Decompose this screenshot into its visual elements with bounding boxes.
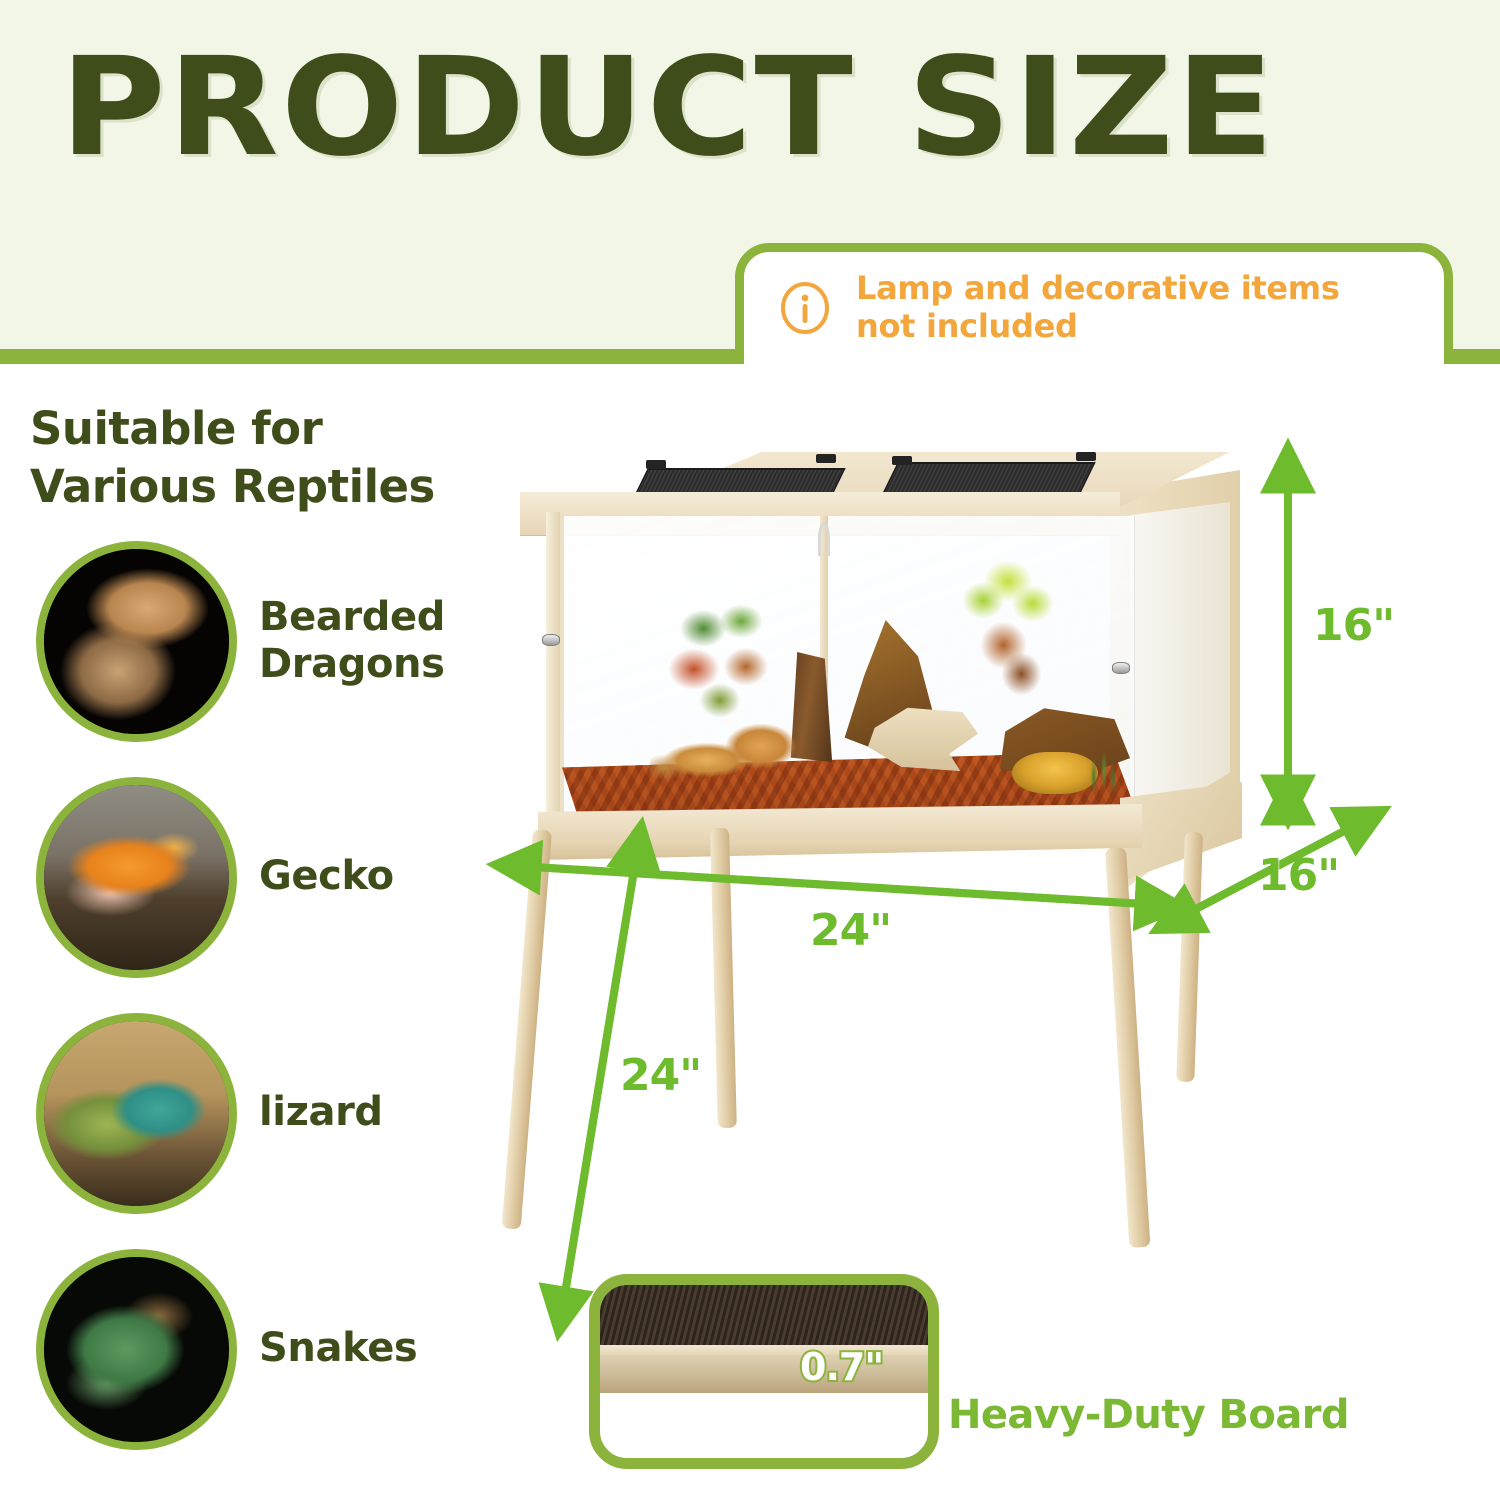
infographic-canvas: PRODUCT SIZE Lamp and decorative items n… [0,0,1500,1489]
stand-leg-back-left [1105,847,1150,1248]
product-image [495,430,1305,1310]
list-item-label: Bearded Dragons [259,594,445,688]
base-front-rail [538,804,1142,860]
lizard-photo [36,1013,237,1214]
board-mesh-surface [600,1285,928,1349]
stand-leg-front-left [502,829,552,1229]
stand-leg-front-right [710,828,737,1128]
door-latch-icon [818,522,830,556]
board-thickness-label: 0.7" [800,1345,883,1389]
list-item-label: Gecko [259,853,394,900]
hinge-icon [816,454,836,463]
stand-leg-back-right [1176,832,1203,1082]
label-line-1: Bearded [259,594,445,641]
grass-decor [1080,742,1126,800]
list-item-label: lizard [259,1089,383,1136]
notice-text: Lamp and decorative items not included [856,270,1340,346]
hinge-icon [1076,452,1096,461]
door-knob-right[interactable] [1112,662,1130,674]
plant-decor-right [952,562,1064,722]
notice-line-2: not included [856,308,1340,346]
not-included-notice: Lamp and decorative items not included [735,243,1453,364]
door-knob-left[interactable] [542,634,560,646]
list-item: lizard [0,995,470,1231]
list-item: Bearded Dragons [0,523,470,759]
notice-line-1: Lamp and decorative items [856,270,1340,308]
suitable-heading-line-2: Various Reptiles [30,458,470,516]
page-title: PRODUCT SIZE [60,40,1276,176]
list-item-label: Snakes [259,1325,417,1372]
dimension-stand-height-label: 24" [620,1050,701,1101]
left-corner-post [546,512,560,824]
heavy-duty-board-inset [589,1274,939,1469]
reptile-list: Bearded Dragons Gecko lizard Snakes [0,523,470,1467]
bearded-dragon-inside [650,724,800,786]
hinge-icon [646,460,666,469]
suitable-for-heading: Suitable for Various Reptiles [30,400,470,515]
dimension-height-label: 16" [1313,600,1394,651]
dimension-depth-label: 16" [1258,850,1339,901]
hinge-icon [892,456,912,465]
terrarium-enclosure [520,452,1230,862]
info-circle-icon [778,281,832,335]
snake-photo [36,1249,237,1450]
plant-decor-left [668,602,786,722]
label-line-2: Dragons [259,641,445,688]
bearded-dragon-photo [36,541,237,742]
heavy-duty-board-caption: Heavy-Duty Board [948,1392,1349,1438]
suitable-heading-line-1: Suitable for [30,400,470,458]
list-item: Gecko [0,759,470,995]
dimension-width-label: 24" [810,905,891,956]
list-item: Snakes [0,1231,470,1467]
gecko-photo [36,777,237,978]
